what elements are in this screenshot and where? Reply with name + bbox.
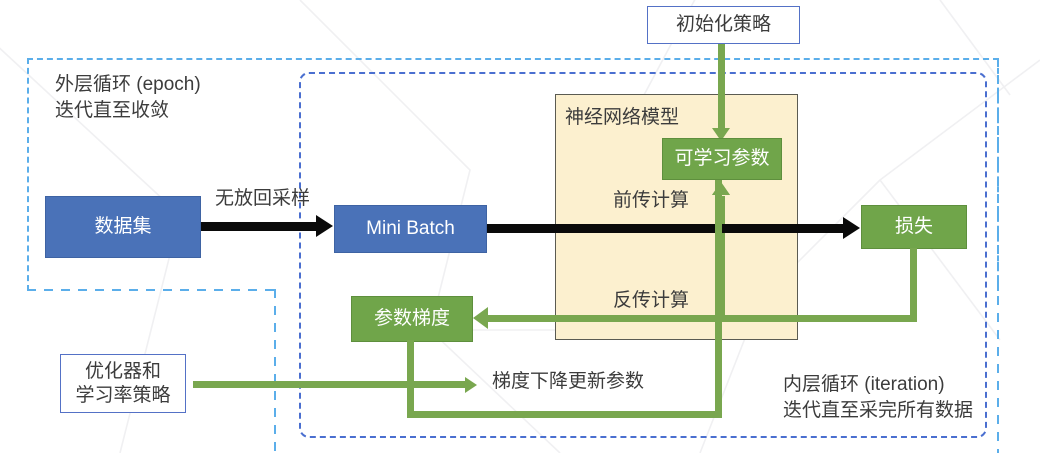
outer-loop-boundary-left-descender: [274, 289, 276, 453]
backward-label: 反传计算: [613, 288, 689, 314]
loss-to-gradient-arrowhead: [473, 307, 488, 329]
forward-label: 前传计算: [613, 188, 689, 214]
optimizer-box[interactable]: 优化器和 学习率策略: [60, 354, 186, 413]
optimizer-to-update-line: [193, 381, 467, 388]
gradient-down-line: [407, 340, 414, 418]
param-gradient-box[interactable]: 参数梯度: [351, 296, 473, 342]
learnable-params-box[interactable]: 可学习参数: [662, 138, 782, 180]
mini-batch-box[interactable]: Mini Batch: [334, 205, 487, 253]
minibatch-to-loss-line: [487, 224, 845, 233]
outer-loop-caption-line2: 迭代直至收敛: [55, 98, 169, 124]
sampling-label: 无放回采样: [215, 186, 310, 212]
outer-loop-boundary-right-descender: [997, 58, 999, 453]
gradient-update-riser-line: [715, 180, 722, 415]
loss-to-gradient-line: [488, 315, 917, 322]
inner-loop-caption-line1: 内层循环 (iteration): [783, 372, 945, 398]
init-strategy-box[interactable]: 初始化策略: [647, 6, 800, 44]
inner-loop-caption-line2: 迭代直至采完所有数据: [783, 398, 973, 424]
optimizer-to-update-arrowhead: [465, 377, 477, 393]
gradient-descent-label: 梯度下降更新参数: [492, 369, 644, 395]
gradient-update-arrowhead: [712, 182, 730, 195]
loss-box[interactable]: 损失: [861, 205, 967, 249]
dataset-to-minibatch-line: [201, 222, 318, 231]
dataset-box[interactable]: 数据集: [45, 196, 201, 258]
outer-loop-caption-line1: 外层循环 (epoch): [55, 72, 201, 98]
outer-loop-boundary-bottom: [27, 289, 277, 291]
dataset-to-minibatch-arrowhead: [316, 215, 333, 237]
init-to-params-line: [718, 44, 725, 134]
optimizer-label-line2: 学习率策略: [75, 384, 170, 408]
neural-network-model-title: 神经网络模型: [565, 102, 679, 129]
gradient-update-horizontal-line: [407, 411, 722, 418]
diagram-canvas: 外层循环 (epoch) 迭代直至收敛 内层循环 (iteration) 迭代直…: [0, 0, 1040, 453]
minibatch-to-loss-arrowhead: [843, 217, 860, 239]
loss-down-line: [910, 248, 917, 322]
optimizer-label-line1: 优化器和: [85, 360, 161, 384]
